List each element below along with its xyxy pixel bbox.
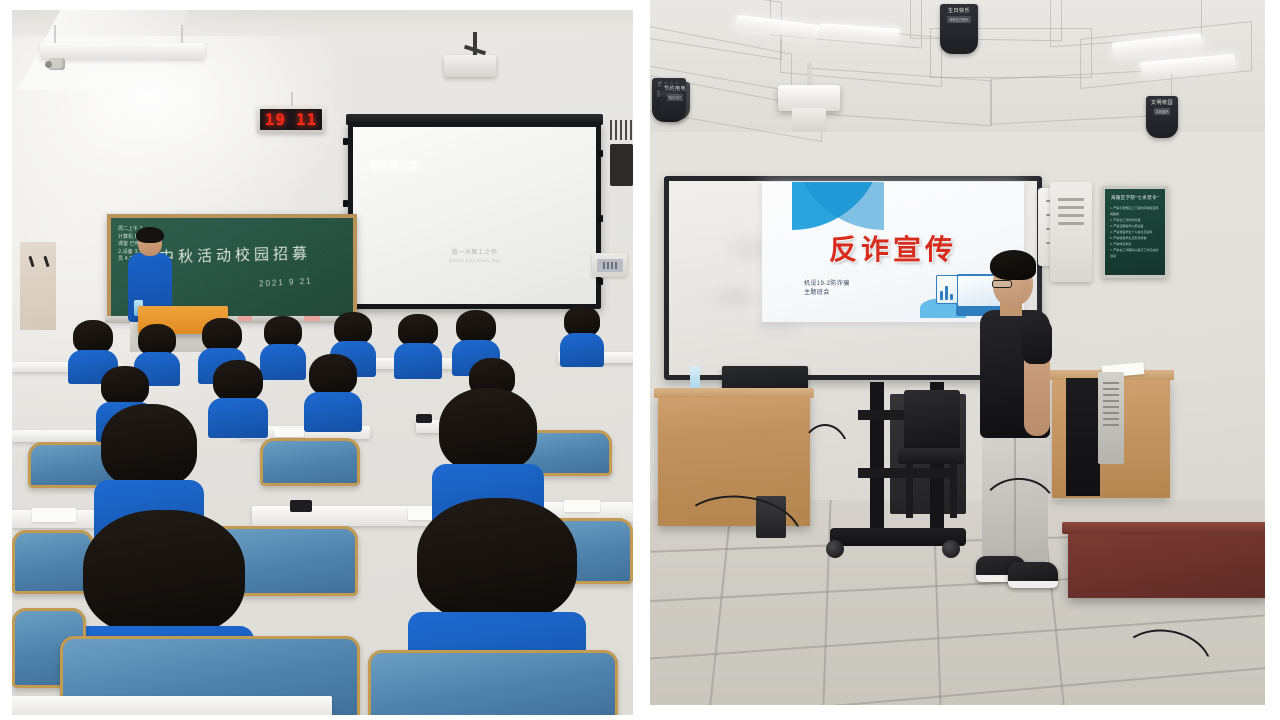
presenter-glasses — [992, 280, 1012, 288]
maroon-table — [1068, 528, 1265, 598]
left-wall-board — [20, 242, 56, 330]
presenter-hair — [990, 250, 1036, 280]
poster-heading: 海陵区学院"七条禁令" — [1110, 195, 1160, 201]
ceiling-sign-right-line1: 文明校园 — [1151, 99, 1173, 106]
cart-mast — [870, 382, 884, 528]
student-head — [309, 354, 357, 396]
screen-hook — [598, 215, 603, 222]
wall-equipment-rack — [610, 120, 633, 190]
student-uniform — [304, 392, 362, 432]
ceiling-sign-right: 文明校园 共同维护 — [1146, 96, 1178, 138]
student — [208, 360, 268, 436]
presenter-sleeve — [1022, 320, 1052, 364]
student-head — [456, 310, 496, 344]
student-desk — [12, 430, 96, 442]
cart-caster — [942, 540, 960, 558]
student-uniform — [208, 398, 268, 438]
screen-hook — [343, 138, 348, 145]
standing-presenter — [974, 250, 1060, 602]
clock-stem — [291, 92, 293, 106]
student-uniform — [560, 333, 604, 367]
phone — [416, 414, 432, 423]
fluorescent-ceiling-light — [40, 43, 205, 59]
chair-frame — [260, 438, 360, 486]
projector-housing — [792, 108, 826, 132]
podium-front-panel — [1066, 378, 1100, 496]
student — [560, 306, 604, 366]
student-head — [213, 360, 263, 402]
screen-center-text: 做一天舞工之师 Before your every day — [353, 247, 596, 263]
student-head — [73, 320, 113, 354]
student — [394, 314, 442, 376]
chair-leg — [950, 462, 957, 518]
clock-face: 19 11 — [260, 109, 322, 130]
wall-rules-poster: 海陵区学院"七条禁令" 1. 严禁不按规定上下班时间和私自离岗脱岗 2. 严禁在… — [1102, 186, 1168, 278]
control-panel-switches[interactable] — [597, 259, 623, 272]
screen-center-text-cn: 做一天舞工之师 — [353, 247, 596, 256]
maroon-table-surface — [1062, 522, 1265, 534]
rack-box — [610, 144, 633, 186]
illustration-tablet — [936, 275, 958, 304]
ceiling-sign-birthday-line2: 祝你生日快乐 — [947, 16, 970, 23]
collage-stage: 19 11 自然我们的 做一天舞工之师 Before your every da… — [0, 0, 1280, 720]
chair-frame — [368, 650, 618, 715]
student-head — [101, 366, 149, 406]
digital-wall-clock: 19 11 — [257, 106, 325, 133]
water-bottle — [690, 366, 700, 390]
student-head — [202, 318, 242, 352]
shoe-sole — [1008, 581, 1058, 588]
blackboard-title: 中秋活动校园招募 — [159, 242, 312, 267]
ceiling-sign-birthday: 生日快乐 祝你生日快乐 — [940, 4, 978, 54]
projector-mount — [464, 32, 486, 56]
chair-backrest — [904, 390, 960, 450]
desk-surface — [654, 388, 814, 398]
pull-down-projection-screen: 自然我们的 做一天舞工之师 Before your every day — [348, 122, 601, 309]
slide-subtitle-line2: 主题班会 — [804, 289, 850, 298]
poster-line: 1. 严禁不按规定上下班时间和私自离岗脱岗 — [1110, 205, 1160, 217]
paper-sheet — [32, 508, 76, 522]
paper-sheet — [274, 428, 304, 437]
ceiling-sign-mid-line1: 节约用电 — [664, 85, 686, 92]
ceiling-sign-birthday-line1: 生日快乐 — [948, 7, 970, 14]
student-head — [417, 498, 577, 622]
ceiling-sign-right-line2: 共同维护 — [1154, 108, 1171, 115]
poster-line: 7. 严禁在工作期间从事与工作无关的活动 — [1110, 247, 1160, 259]
screen-hook — [598, 150, 603, 157]
black-office-chair[interactable] — [898, 390, 964, 518]
ceiling-sign-mid-line2: 随手关灯 — [667, 94, 684, 101]
screen-hook — [598, 278, 603, 285]
wall-control-panel[interactable] — [592, 253, 627, 277]
ceiling-sign-mid: 节约用电 随手关灯 — [660, 82, 690, 120]
screen-center-text-en: Before your every day — [353, 258, 596, 263]
wall-security-camera — [48, 58, 65, 70]
clock-hours: 19 — [265, 112, 286, 128]
slide-subtitle-line1: 机设19-2防诈骗 — [804, 280, 850, 289]
clock-minutes: 11 — [296, 112, 317, 128]
student-desk — [12, 696, 332, 715]
ceiling-projector — [444, 55, 496, 77]
podium-side-vent — [1098, 372, 1124, 464]
projector-mount — [798, 62, 820, 87]
screen-hook — [343, 200, 348, 207]
phone — [290, 500, 312, 512]
student-head — [439, 388, 537, 472]
student-uniform — [394, 343, 442, 379]
screen-top-text: 自然我们的 — [369, 159, 419, 172]
classroom-lecture-photo: 19 11 自然我们的 做一天舞工之师 Before your every da… — [12, 10, 633, 715]
student-head — [83, 510, 245, 636]
presenter-ear — [1022, 282, 1030, 293]
ceiling-tile — [990, 69, 1172, 125]
teacher-hair — [136, 227, 164, 243]
student — [304, 354, 362, 430]
chalk-piece — [304, 316, 320, 321]
chair-leg — [906, 462, 913, 518]
cart-caster — [826, 540, 844, 558]
slide-subtitle: 机设19-2防诈骗 主题班会 — [804, 280, 850, 298]
student-head — [101, 404, 197, 488]
anti-fraud-presentation-photo: 注意安全 请勿触碰电源 生日快乐 祝你生日快乐 文明校园 共同维护 节约用电 随… — [650, 0, 1265, 705]
presenter-shoe — [1008, 562, 1058, 588]
